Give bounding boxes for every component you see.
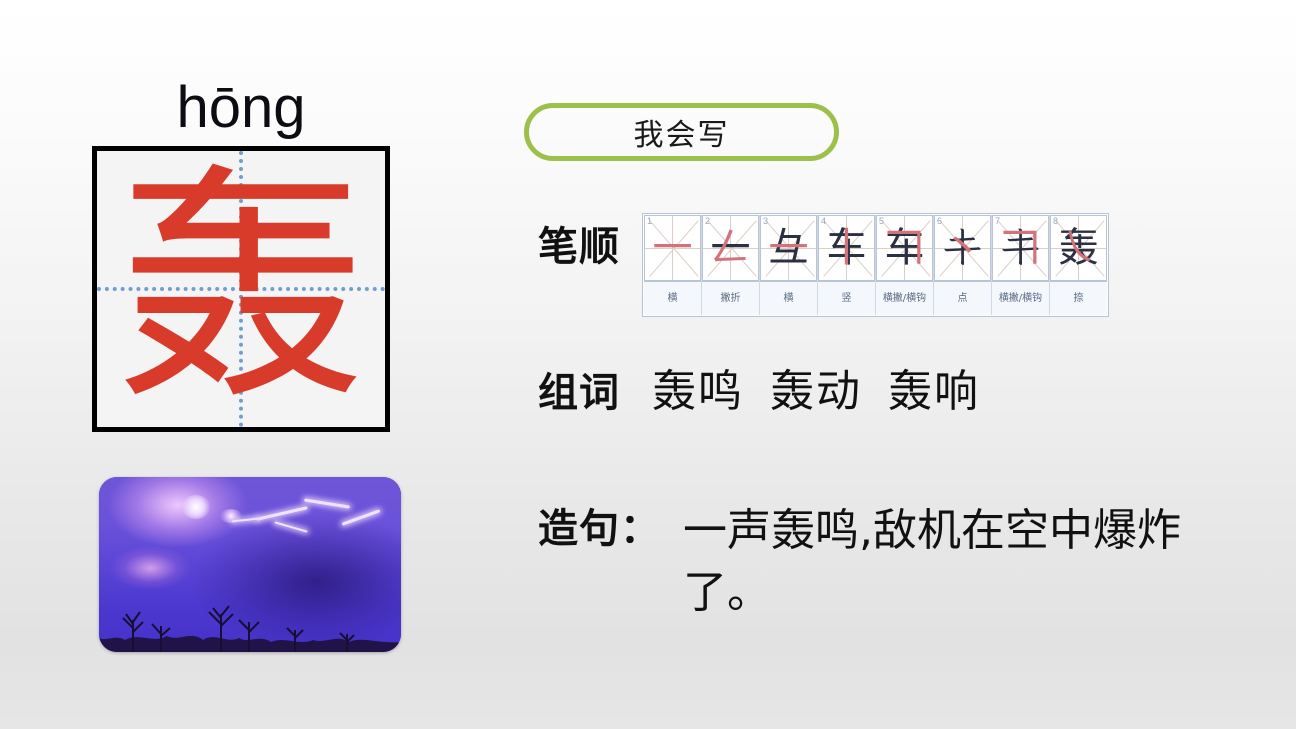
sentence-row: 造句： 一声轰鸣,敌机在空中爆炸了。 [538, 500, 1213, 624]
stroke-step-glyph-stack: 车丨 [819, 216, 874, 280]
stroke-step-name: 撇折 [702, 281, 759, 315]
word-item: 轰动 [770, 366, 862, 417]
stroke-step-number: 6 [937, 216, 942, 227]
stroke-step-name: 横 [760, 281, 817, 315]
stroke-step-glyph-stack: 车𠃍 [877, 216, 932, 280]
stroke-step-cell: 7𰀁𠃍横撇/横钩 [992, 215, 1050, 315]
pinyin-text: hōng [92, 76, 390, 140]
stroke-step-grid: 1一 [644, 215, 701, 281]
stroke-step-name: 点 [934, 281, 991, 315]
sentence-text: 一声轰鸣,敌机在空中爆炸了。 [683, 500, 1213, 624]
stroke-step-cell: 1一横 [644, 215, 702, 315]
stroke-step-name: 捺 [1050, 281, 1107, 315]
stroke-step-number: 4 [821, 216, 826, 227]
stroke-step-grid: 4车丨 [818, 215, 875, 281]
lightning-photo [99, 477, 401, 652]
stroke-new-glyph: 丶 [943, 228, 983, 268]
stroke-step-number: 2 [705, 216, 710, 227]
stroke-step-name: 横撇/横钩 [876, 281, 933, 315]
stroke-step-number: 5 [879, 216, 884, 227]
stroke-step-glyph-stack: 𰀁丶 [935, 216, 990, 280]
stroke-step-cell: 5车𠃍横撇/横钩 [876, 215, 934, 315]
stroke-new-glyph: ㇏ [1059, 228, 1099, 268]
character-grid-inner: 轰 [97, 151, 385, 427]
stroke-new-glyph: 一 [769, 228, 809, 268]
stroke-step-cell: 2一𠃋撇折 [702, 215, 760, 315]
stroke-order-strip: 1一横2一𠃋撇折3⺔一横4车丨竖5车𠃍横撇/横钩6𰀁丶点7𰀁𠃍横撇/横钩8轰㇏捺 [642, 213, 1109, 317]
words-label: 组词 [538, 360, 620, 418]
words-list: 轰鸣轰动轰响 [652, 366, 980, 418]
stroke-step-name: 横 [644, 281, 701, 315]
stroke-step-grid: 6𰀁丶 [934, 215, 991, 281]
stroke-step-number: 1 [647, 216, 652, 227]
tree-silhouette-line [99, 592, 401, 652]
stroke-step-glyph-stack: 一 [645, 216, 700, 280]
stroke-step-grid: 8轰㇏ [1050, 215, 1107, 281]
character-column: hōng 轰 [0, 0, 480, 729]
stroke-step-number: 7 [995, 216, 1000, 227]
stroke-new-glyph: 𠃍 [885, 228, 925, 268]
word-item: 轰鸣 [652, 366, 744, 417]
stroke-step-number: 3 [763, 216, 768, 227]
stroke-step-grid: 3⺔一 [760, 215, 817, 281]
slide-root: hōng 轰 [0, 0, 1296, 729]
stroke-step-number: 8 [1053, 216, 1058, 227]
stroke-step-glyph-stack: ⺔一 [761, 216, 816, 280]
stroke-order-row: 笔顺 1一横2一𠃋撇折3⺔一横4车丨竖5车𠃍横撇/横钩6𰀁丶点7𰀁𠃍横撇/横钩8… [538, 213, 1109, 317]
stroke-new-glyph: 𠃍 [1001, 228, 1041, 268]
words-row: 组词 轰鸣轰动轰响 [538, 360, 980, 418]
stroke-step-grid: 7𰀁𠃍 [992, 215, 1049, 281]
sentence-label: 造句： [538, 500, 661, 558]
content-column: 我会写 笔顺 1一横2一𠃋撇折3⺔一横4车丨竖5车𠃍横撇/横钩6𰀁丶点7𰀁𠃍横撇… [480, 0, 1296, 729]
word-item: 轰响 [888, 366, 980, 417]
stroke-new-glyph: 丨 [827, 228, 867, 268]
stroke-step-cell: 8轰㇏捺 [1050, 215, 1107, 315]
stroke-order-label: 笔顺 [538, 213, 620, 281]
stroke-step-grid: 2一𠃋 [702, 215, 759, 281]
stroke-step-name: 横撇/横钩 [992, 281, 1049, 315]
lightning-flash-icon [181, 495, 211, 519]
stroke-step-grid: 5车𠃍 [876, 215, 933, 281]
section-badge-label: 我会写 [634, 110, 730, 154]
tree-silhouette-icon [99, 592, 401, 652]
character-grid-box: 轰 [92, 146, 390, 432]
section-badge: 我会写 [524, 103, 839, 161]
stroke-new-glyph: 一 [653, 228, 693, 268]
stroke-step-cell: 4车丨竖 [818, 215, 876, 315]
stroke-step-glyph-stack: 一𠃋 [703, 216, 758, 280]
stroke-step-glyph-stack: 轰㇏ [1051, 216, 1106, 280]
stroke-step-name: 竖 [818, 281, 875, 315]
stroke-step-cell: 6𰀁丶点 [934, 215, 992, 315]
stroke-new-glyph: 𠃋 [711, 228, 751, 268]
stroke-step-cell: 3⺔一横 [760, 215, 818, 315]
stroke-step-glyph-stack: 𰀁𠃍 [993, 216, 1048, 280]
main-character: 轰 [97, 151, 385, 427]
